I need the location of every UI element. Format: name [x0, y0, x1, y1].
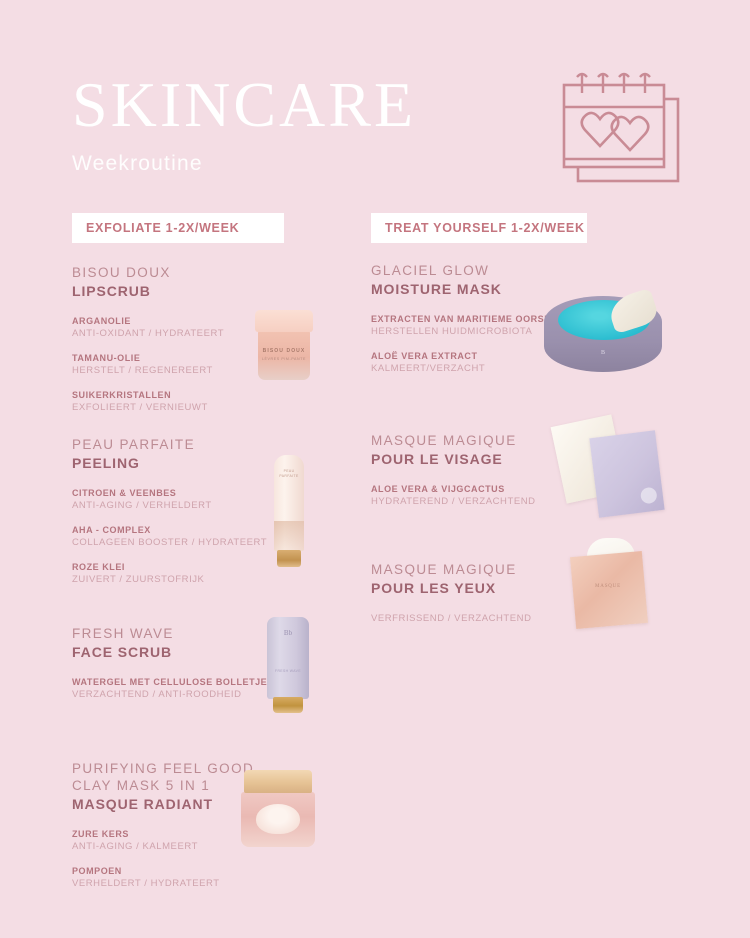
ingredient-item: ROZE KLEI ZUIVERT / ZUURSTOFRIJK: [72, 561, 372, 586]
jar-label: BISOU DOUX: [260, 348, 308, 354]
moisture-mask-jar-image: B: [538, 288, 668, 380]
ingredient-item: POMPOEN VERHELDERT / HYDRATEERT: [72, 865, 372, 890]
sheet-mask-sachet-front: [589, 430, 664, 517]
eye-mask-sachet: [570, 551, 648, 629]
ingredient-benefit: VERHELDERT / HYDRATEERT: [72, 877, 372, 890]
calendar-hearts-icon: [548, 63, 698, 193]
ingredient-benefit: EXFOLIEERT / VERNIEUWT: [72, 401, 372, 414]
ingredient-item: ARGANOLIE ANTI-OXIDANT / HYDRATEERT: [72, 315, 372, 340]
ingredient-name: AHA - COMPLEX: [72, 524, 372, 536]
peeling-tube-image: PEAU PARFAITE: [271, 455, 307, 567]
product-name: GLACIEL GLOW: [371, 262, 671, 279]
ingredient-list: ARGANOLIE ANTI-OXIDANT / HYDRATEERT TAMA…: [72, 315, 372, 414]
tube-label: PEAU PARFAITE: [276, 469, 302, 479]
ingredient-item: TAMANU-OLIE HERSTELT / REGENEREERT: [72, 352, 372, 377]
ingredient-benefit: COLLAGEEN BOOSTER / HYDRATEERT: [72, 536, 372, 549]
face-scrub-tube-image: Bb FRESH WAVE: [265, 617, 311, 713]
ingredient-item: CITROEN & VEENBES ANTI-AGING / VERHELDER…: [72, 487, 372, 512]
product-type: LIPSCRUB: [72, 282, 372, 301]
section-header-treat-yourself: TREAT YOURSELF 1-2X/WEEK: [371, 213, 587, 243]
eye-mask-sachet-image: MASQUE: [565, 538, 657, 630]
clay-mask-jar-image: [240, 770, 316, 848]
product-name: PEAU PARFAITE: [72, 436, 372, 453]
jar-brand-mark: B: [582, 350, 624, 356]
product-peau-parfaite: PEAU PARFAITE PEELING CITROEN & VEENBES …: [72, 436, 372, 586]
ingredient-list: ZURE KERS ANTI-AGING / KALMEERT POMPOEN …: [72, 828, 372, 890]
sachet-seal: [640, 487, 658, 505]
product-type: PEELING: [72, 454, 372, 473]
ingredient-benefit: VERZACHTEND / ANTI-ROODHEID: [72, 688, 372, 701]
ingredient-benefit: ANTI-AGING / KALMEERT: [72, 840, 372, 853]
ingredient-item: ZURE KERS ANTI-AGING / KALMEERT: [72, 828, 372, 853]
jar-lid: [244, 770, 312, 793]
tube-cap: [277, 550, 301, 567]
ingredient-name: CITROEN & VEENBES: [72, 487, 372, 499]
tube-decoration: [274, 521, 304, 551]
ingredient-benefit: ZUIVERT / ZUURSTOFRIJK: [72, 573, 372, 586]
product-type: FACE SCRUB: [72, 643, 372, 662]
product-name-line2: CLAY MASK 5 IN 1: [72, 777, 372, 794]
header-title-block: SKINCARE Weekroutine: [72, 74, 416, 176]
product-clay-mask: PURIFYING FEEL GOOD CLAY MASK 5 IN 1 MAS…: [72, 760, 372, 890]
ingredient-item: SUIKERKRISTALLEN EXFOLIEERT / VERNIEUWT: [72, 389, 372, 414]
section-header-exfoliate-label: EXFOLIATE 1-2X/WEEK: [86, 221, 239, 235]
product-fresh-wave: FRESH WAVE FACE SCRUB WATERGEL MET CELLU…: [72, 625, 372, 701]
ingredient-list: WATERGEL MET CELLULOSE BOLLETJES VERZACH…: [72, 676, 372, 701]
jar-contents: [256, 804, 300, 834]
ingredient-benefit: ANTI-OXIDANT / HYDRATEERT: [72, 327, 372, 340]
jar-lid: [255, 310, 313, 332]
product-bisou-doux: BISOU DOUX LIPSCRUB ARGANOLIE ANTI-OXIDA…: [72, 264, 372, 414]
tube-cap: [273, 697, 303, 713]
product-type: MASQUE RADIANT: [72, 795, 372, 814]
ingredient-benefit: HERSTELT / REGENEREERT: [72, 364, 372, 377]
face-sheet-masks-image: [558, 418, 668, 518]
ingredient-name: POMPOEN: [72, 865, 372, 877]
ingredient-item: WATERGEL MET CELLULOSE BOLLETJES VERZACH…: [72, 676, 372, 701]
product-name: PURIFYING FEEL GOOD: [72, 760, 372, 777]
skincare-routine-poster: SKINCARE Weekroutine: [0, 0, 750, 938]
ingredient-name: WATERGEL MET CELLULOSE BOLLETJES: [72, 676, 372, 688]
ingredient-name: ARGANOLIE: [72, 315, 372, 327]
ingredient-benefit: ANTI-AGING / VERHELDERT: [72, 499, 372, 512]
ingredient-name: ZURE KERS: [72, 828, 372, 840]
product-name: FRESH WAVE: [72, 625, 372, 642]
jar-sublabel: LÈVRES PIM-PANTE: [260, 357, 308, 361]
lip-scrub-jar-image: BISOU DOUX LÈVRES PIM-PANTE: [253, 310, 315, 382]
ingredient-name: SUIKERKRISTALLEN: [72, 389, 372, 401]
ingredient-name: ROZE KLEI: [72, 561, 372, 573]
page-title: SKINCARE: [72, 74, 416, 136]
ingredient-item: AHA - COMPLEX COLLAGEEN BOOSTER / HYDRAT…: [72, 524, 372, 549]
product-name: BISOU DOUX: [72, 264, 372, 281]
ingredient-name: TAMANU-OLIE: [72, 352, 372, 364]
tube-label: FRESH WAVE: [269, 669, 307, 674]
ingredient-list: CITROEN & VEENBES ANTI-AGING / VERHELDER…: [72, 487, 372, 586]
jar-body: [258, 330, 310, 380]
tube-logo: Bb: [269, 629, 307, 637]
section-header-exfoliate: EXFOLIATE 1-2X/WEEK: [72, 213, 284, 243]
page-subtitle: Weekroutine: [72, 152, 416, 176]
eye-mask-label: MASQUE: [577, 584, 639, 589]
section-header-treat-yourself-label: TREAT YOURSELF 1-2X/WEEK: [385, 221, 585, 235]
